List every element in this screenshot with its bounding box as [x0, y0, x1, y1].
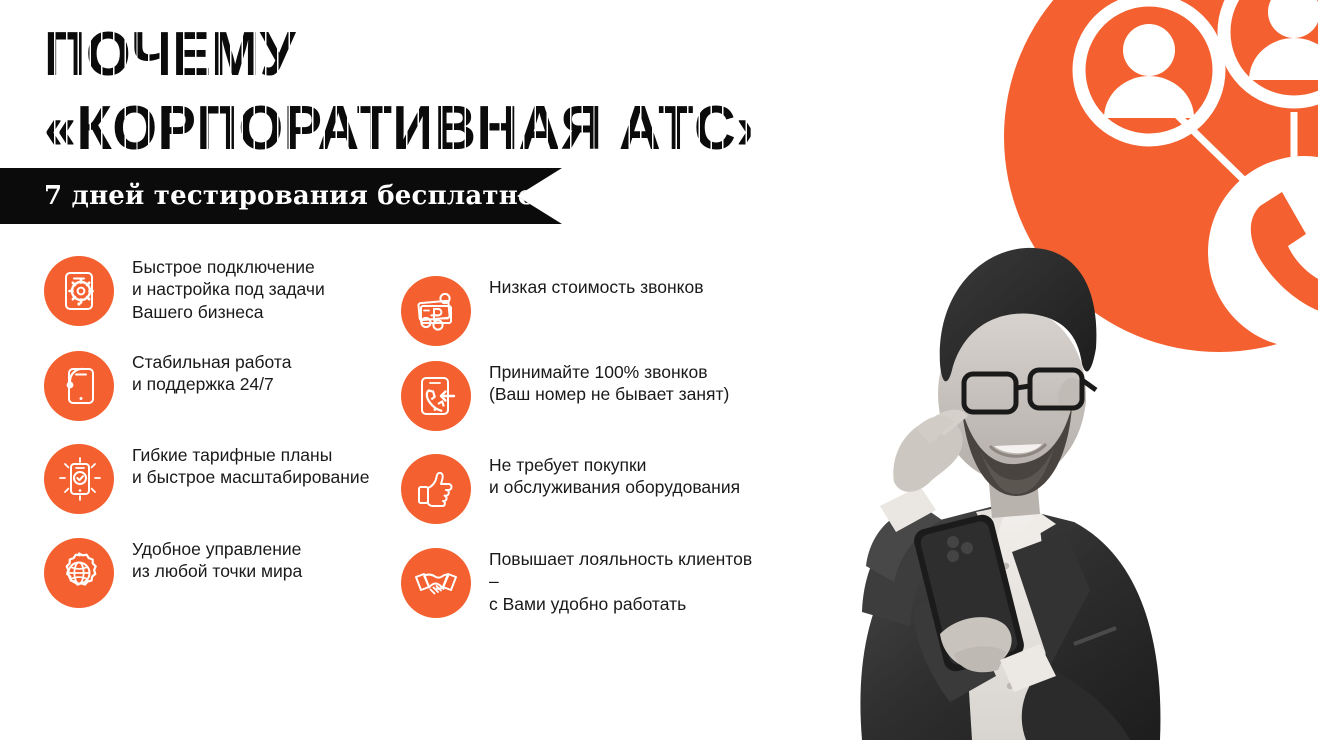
phone-handset-icon	[1208, 156, 1318, 348]
title-line-2: «КОРПОРАТИВНАЯ АТС»	[44, 98, 751, 160]
feature-label: Быстрое подключение и настройка под зада…	[114, 256, 325, 323]
promo-ribbon: 7 дней тестирования бесплатно	[0, 168, 562, 224]
promo-ribbon-text: 7 дней тестирования бесплатно	[0, 181, 535, 211]
feature-label: Принимайте 100% звонков (Ваш номер не бы…	[471, 361, 729, 406]
user-avatar-icon	[1224, 0, 1318, 102]
feature-item-flexible-plans[interactable]: Гибкие тарифные планы и быстрое масштаби…	[44, 444, 369, 514]
feature-label: Удобное управление из любой точки мира	[114, 538, 302, 583]
feature-item-low-cost[interactable]: Низкая стоимость звонков	[401, 276, 704, 346]
feature-label: Не требует покупки и обслуживания оборуд…	[471, 454, 740, 499]
page-title: ПОЧЕМУ «КОРПОРАТИВНАЯ АТС»	[44, 24, 804, 160]
user-avatar-icon	[1079, 0, 1219, 140]
feature-label: Стабильная работа и поддержка 24/7	[114, 351, 291, 396]
title-line-1: ПОЧЕМУ	[44, 24, 751, 86]
feature-item-all-calls-answered[interactable]: Принимайте 100% звонков (Ваш номер не бы…	[401, 361, 729, 431]
globe-gear-icon	[44, 538, 114, 608]
feature-item-stable-support[interactable]: Стабильная работа и поддержка 24/7	[44, 351, 291, 421]
feature-item-global-management[interactable]: Удобное управление из любой точки мира	[44, 538, 302, 608]
feature-item-fast-connection[interactable]: Быстрое подключение и настройка под зада…	[44, 256, 325, 326]
phone-incoming-call-icon	[401, 361, 471, 431]
businessman-with-smartphone-photo	[744, 214, 1224, 740]
feature-label: Гибкие тарифные планы и быстрое масштаби…	[114, 444, 369, 489]
feature-item-customer-loyalty[interactable]: Повышает лояльность клиентов – с Вами уд…	[401, 548, 766, 618]
feature-label: Низкая стоимость звонков	[471, 276, 704, 298]
phone-gear-icon	[44, 256, 114, 326]
slide-root: ПОЧЕМУ «КОРПОРАТИВНАЯ АТС» 7 дней тестир…	[0, 0, 1318, 740]
handshake-icon	[401, 548, 471, 618]
feature-label: Повышает лояльность клиентов – с Вами уд…	[471, 548, 766, 615]
phone-headset-icon	[44, 351, 114, 421]
phone-check-rays-icon	[44, 444, 114, 514]
feature-item-no-equipment[interactable]: Не требует покупки и обслуживания оборуд…	[401, 454, 740, 524]
banknote-ruble-icon	[401, 276, 471, 346]
thumbs-up-icon	[401, 454, 471, 524]
